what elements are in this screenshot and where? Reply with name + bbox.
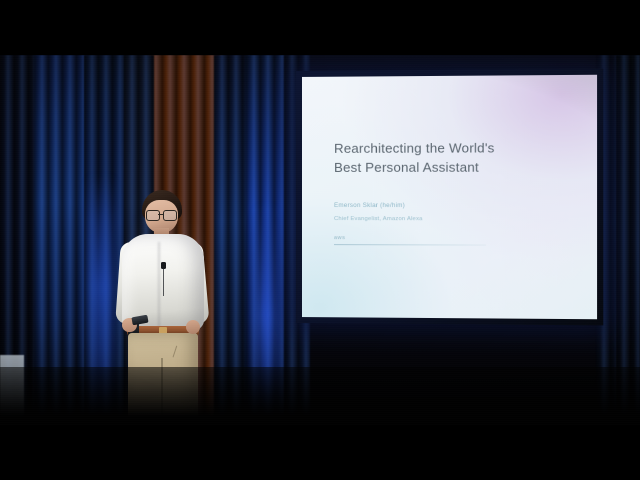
glasses-icon: [145, 210, 178, 219]
stage-scene: Rearchitecting the World'sBest Personal …: [0, 55, 640, 425]
projection-screen-surface: Rearchitecting the World'sBest Personal …: [302, 75, 597, 319]
glasses-bridge: [158, 214, 163, 215]
glasses-lens-left: [146, 210, 160, 221]
presenter-hand-right: [186, 320, 200, 334]
shirt-fold: [158, 242, 160, 328]
letterbox-top: [0, 0, 640, 55]
projection-screen-frame: Rearchitecting the World'sBest Personal …: [296, 69, 603, 326]
slide-speaker-role: Chief Evangelist, Amazon Alexa: [334, 215, 423, 224]
stage-floor: [0, 367, 640, 425]
slide-speaker-name: Emerson Sklar (he/him): [334, 201, 405, 211]
slide-divider-rule: [334, 244, 486, 245]
glasses-lens-right: [163, 210, 177, 221]
letterbox-bottom: [0, 425, 640, 480]
microphone-wire: [163, 268, 164, 296]
slide-title: Rearchitecting the World'sBest Personal …: [334, 139, 568, 177]
presentation-slide: Rearchitecting the World'sBest Personal …: [302, 75, 597, 319]
aws-logo: aws: [334, 235, 345, 241]
video-frame: Rearchitecting the World'sBest Personal …: [0, 0, 640, 480]
